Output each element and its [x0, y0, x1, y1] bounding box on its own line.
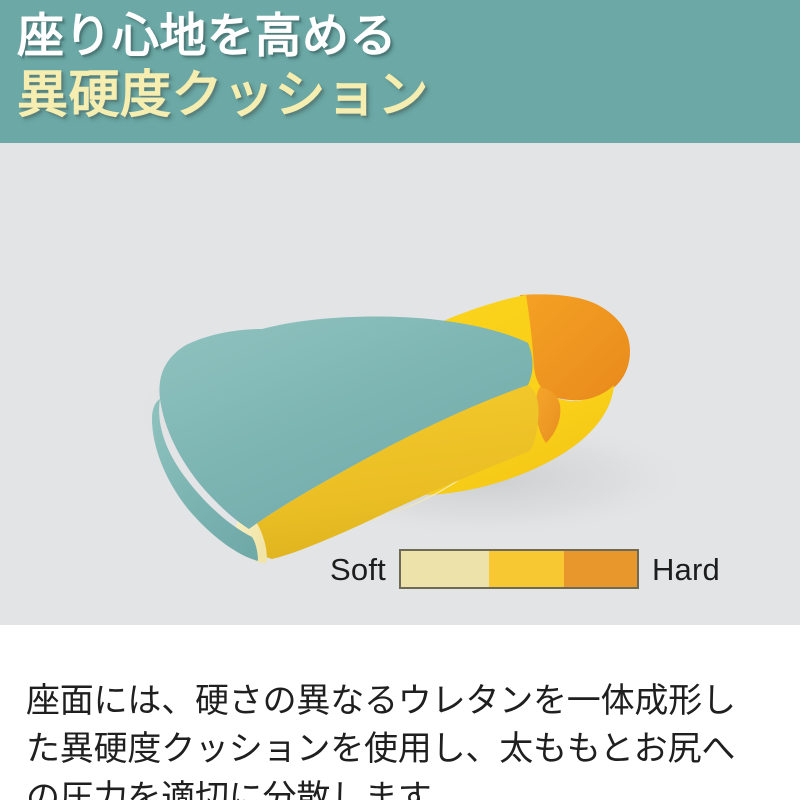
header-title-line-2: 異硬度クッション: [17, 69, 429, 120]
legend-soft-label: Soft: [330, 554, 386, 585]
legend-segment-medium: [489, 551, 563, 587]
hardness-gradient-bar: [399, 549, 639, 589]
header-title-line-1: 座り心地を高める: [17, 12, 397, 59]
product-feature-infographic: 座り心地を高める 異硬度クッション: [0, 0, 800, 800]
caption-panel: 座面には、硬さの異なるウレタンを一体成形した異硬度クッションを使用し、太ももとお…: [0, 625, 800, 800]
legend-hard-label: Hard: [652, 554, 720, 585]
hardness-legend: Soft Hard: [330, 545, 760, 593]
header-banner: 座り心地を高める 異硬度クッション: [0, 0, 800, 143]
caption-text: 座面には、硬さの異なるウレタンを一体成形した異硬度クッションを使用し、太ももとお…: [26, 677, 767, 800]
legend-segment-soft: [401, 551, 490, 587]
legend-segment-hard: [564, 551, 637, 587]
